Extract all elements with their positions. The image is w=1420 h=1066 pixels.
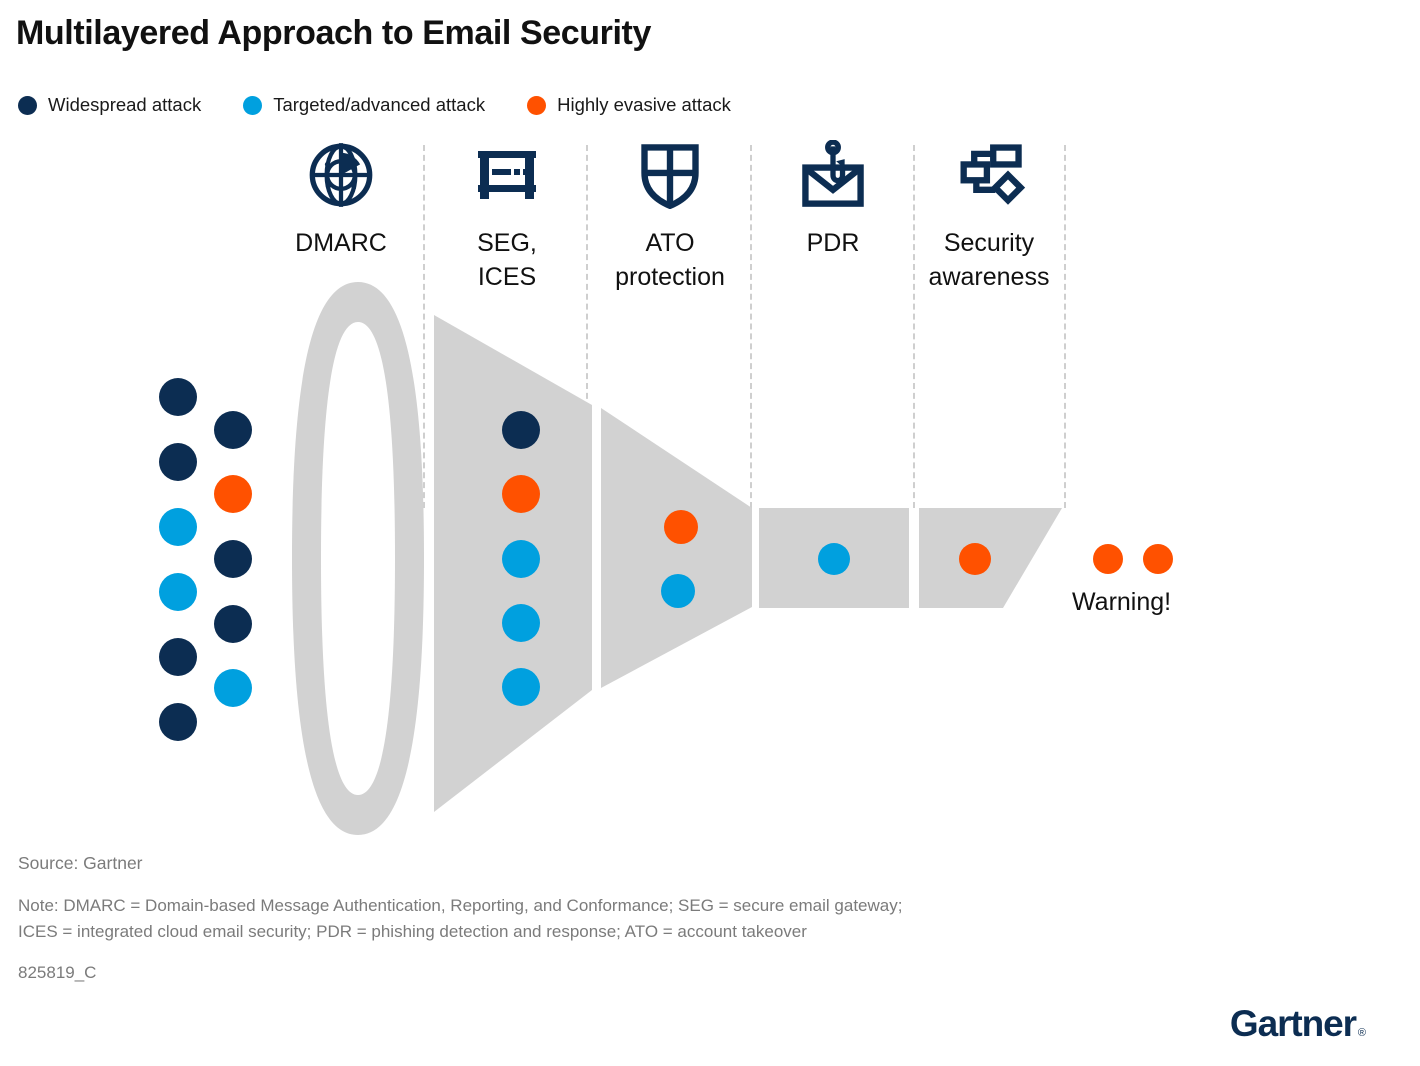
funnel-band-security-awareness [919, 508, 1062, 608]
legend-item-evasive: Highly evasive attack [527, 94, 731, 116]
globe-crosshair-icon [241, 140, 441, 210]
layer-label-ato-protection: ATOprotection [570, 226, 770, 294]
layer-security-awareness[interactable]: Securityawareness [889, 140, 1089, 294]
gartner-logo: Gartner ® [1230, 1005, 1366, 1042]
legend-item-targeted: Targeted/advanced attack [243, 94, 485, 116]
legend-item-widespread: Widespread attack [18, 94, 201, 116]
network-nodes-icon [889, 140, 1089, 210]
layer-ato-protection[interactable]: ATOprotection [570, 140, 770, 294]
legend-label-evasive: Highly evasive attack [557, 94, 731, 116]
security-layer-headers: DMARC SEG,ICES ATOprotection [0, 140, 1420, 510]
registered-trademark-icon: ® [1358, 1027, 1366, 1039]
dot-widespread [214, 540, 252, 578]
warning-label: Warning! [1072, 588, 1171, 617]
dots-outbound-warning [1093, 544, 1173, 574]
layer-label-ato: ATO [645, 229, 694, 257]
dot-evasive [1093, 544, 1123, 574]
dot-widespread [159, 638, 197, 676]
dot-evasive [1143, 544, 1173, 574]
layer-label-security-awareness: Securityawareness [889, 226, 1089, 294]
layer-dmarc[interactable]: DMARC [241, 140, 441, 260]
legend-label-widespread: Widespread attack [48, 94, 201, 116]
dot-targeted [661, 574, 695, 608]
footer-note: Note: DMARC = Domain-based Message Authe… [18, 893, 1138, 945]
legend-label-targeted: Targeted/advanced attack [273, 94, 485, 116]
dots-after-seg-ices [661, 510, 698, 608]
dots-after-pdr [959, 543, 991, 575]
layer-label-security: Security [944, 229, 1034, 257]
legend-swatch-widespread-icon [18, 96, 37, 115]
dot-targeted [502, 668, 540, 706]
dot-targeted [159, 508, 197, 546]
footer-note-line1: Note: DMARC = Domain-based Message Authe… [18, 896, 902, 915]
dot-targeted [818, 543, 850, 575]
dot-evasive [959, 543, 991, 575]
dot-targeted [214, 669, 252, 707]
footer-code: 825819_C [18, 963, 1138, 983]
dot-widespread [159, 703, 197, 741]
layer-label-awareness: awareness [929, 263, 1050, 291]
footer-note-line2: ICES = integrated cloud email security; … [18, 922, 807, 941]
layer-label-seg: SEG, [477, 229, 537, 257]
dot-evasive [664, 510, 698, 544]
dots-after-ato [818, 543, 850, 575]
dot-targeted [159, 573, 197, 611]
legend-swatch-evasive-icon [527, 96, 546, 115]
funnel-band-pdr [759, 508, 909, 608]
layer-label-ices: ICES [478, 263, 536, 291]
legend: Widespread attack Targeted/advanced atta… [18, 92, 773, 118]
footer: Source: Gartner Note: DMARC = Domain-bas… [18, 853, 1138, 983]
dot-widespread [214, 605, 252, 643]
dot-targeted [502, 540, 540, 578]
dot-targeted [502, 604, 540, 642]
layer-label-dmarc: DMARC [241, 226, 441, 260]
legend-swatch-targeted-icon [243, 96, 262, 115]
footer-source: Source: Gartner [18, 853, 1138, 874]
page-title: Multilayered Approach to Email Security [16, 14, 651, 53]
gartner-wordmark: Gartner [1230, 1005, 1356, 1042]
layer-label-protection: protection [615, 263, 725, 291]
shield-icon [570, 140, 770, 210]
